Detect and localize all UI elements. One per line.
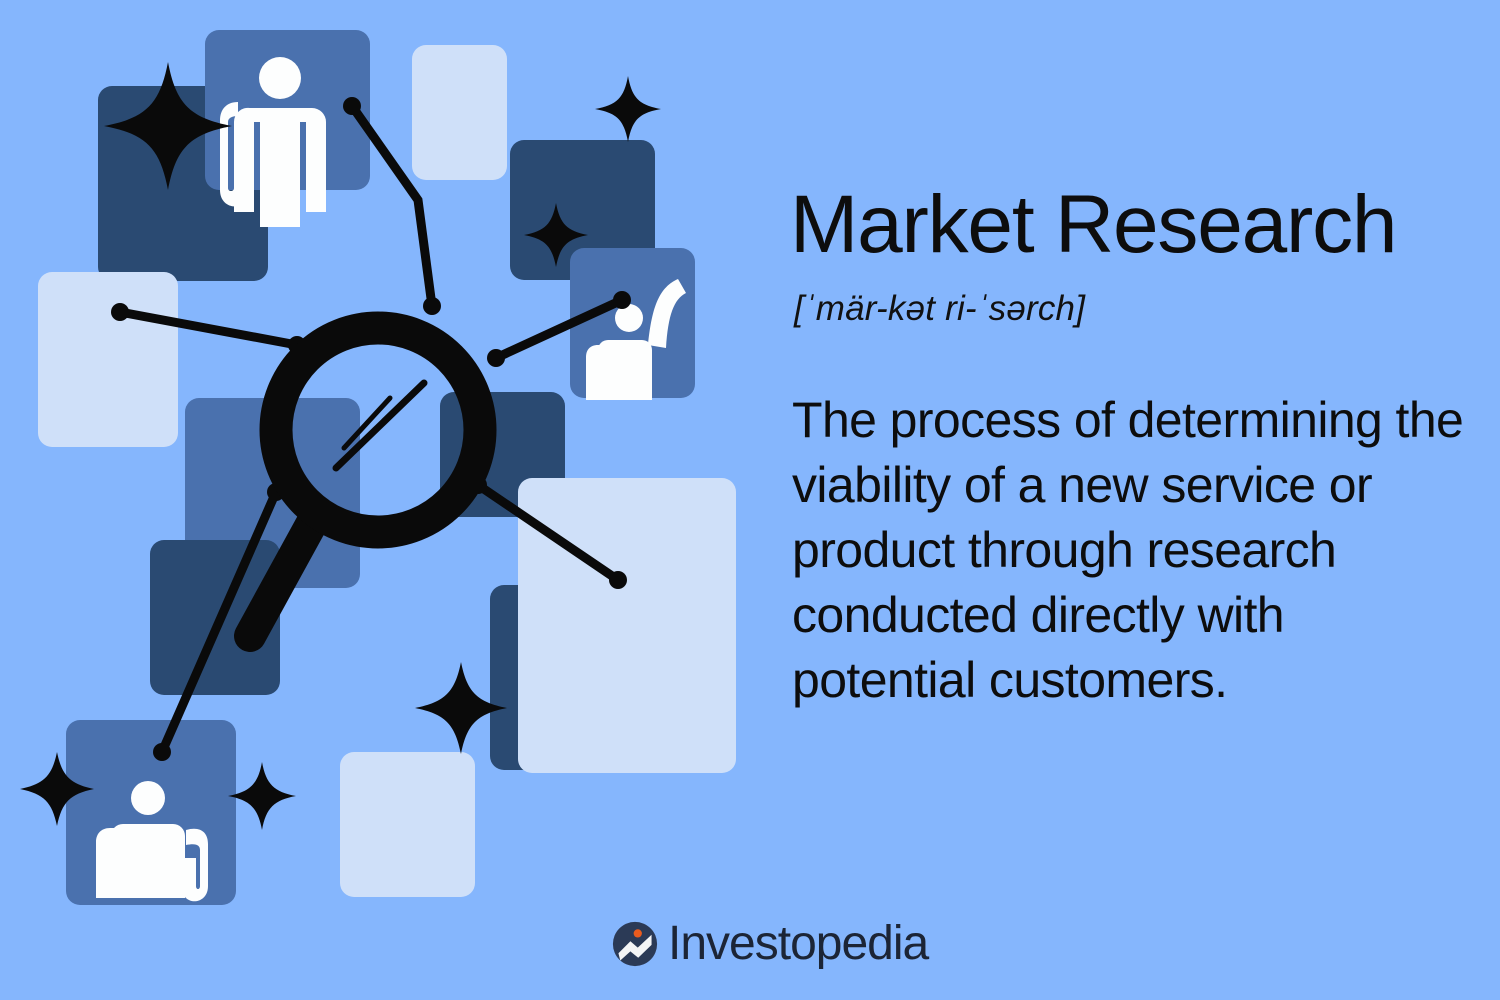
definition-block: Market Research [ˈmär-kət ri-ˈsərch] The… [790, 186, 1480, 713]
endpoint-lowperson-end [153, 743, 171, 761]
tile-light-big-right [518, 478, 736, 773]
endpoint-left-start [111, 303, 129, 321]
sparkle-bottom-left2 [228, 762, 296, 830]
sparkle-top-right [595, 76, 661, 142]
investopedia-logo[interactable]: Investopedia [612, 921, 928, 967]
tile-light-top-mid [412, 45, 507, 180]
tile-light-bottom-mid [340, 752, 475, 897]
page-title: Market Research [790, 186, 1480, 264]
tile-light-left [38, 272, 178, 447]
endpoint-right-start [613, 291, 631, 309]
pronunciation-text: [ˈmär-kət ri-ˈsərch] [794, 290, 1480, 329]
endpoint-top-person-end [423, 297, 441, 315]
investopedia-mark-icon [612, 921, 658, 967]
endpoint-top-person-start [343, 97, 361, 115]
endpoint-biglight-end [609, 571, 627, 589]
infographic-card: Market Research [ˈmär-kət ri-ˈsərch] The… [0, 0, 1500, 1000]
definition-text: The process of determining the viability… [792, 388, 1480, 713]
endpoint-right-end [487, 349, 505, 367]
investopedia-wordmark: Investopedia [668, 921, 928, 967]
illustration-svg [0, 0, 760, 1000]
illustration-panel [0, 0, 760, 1000]
